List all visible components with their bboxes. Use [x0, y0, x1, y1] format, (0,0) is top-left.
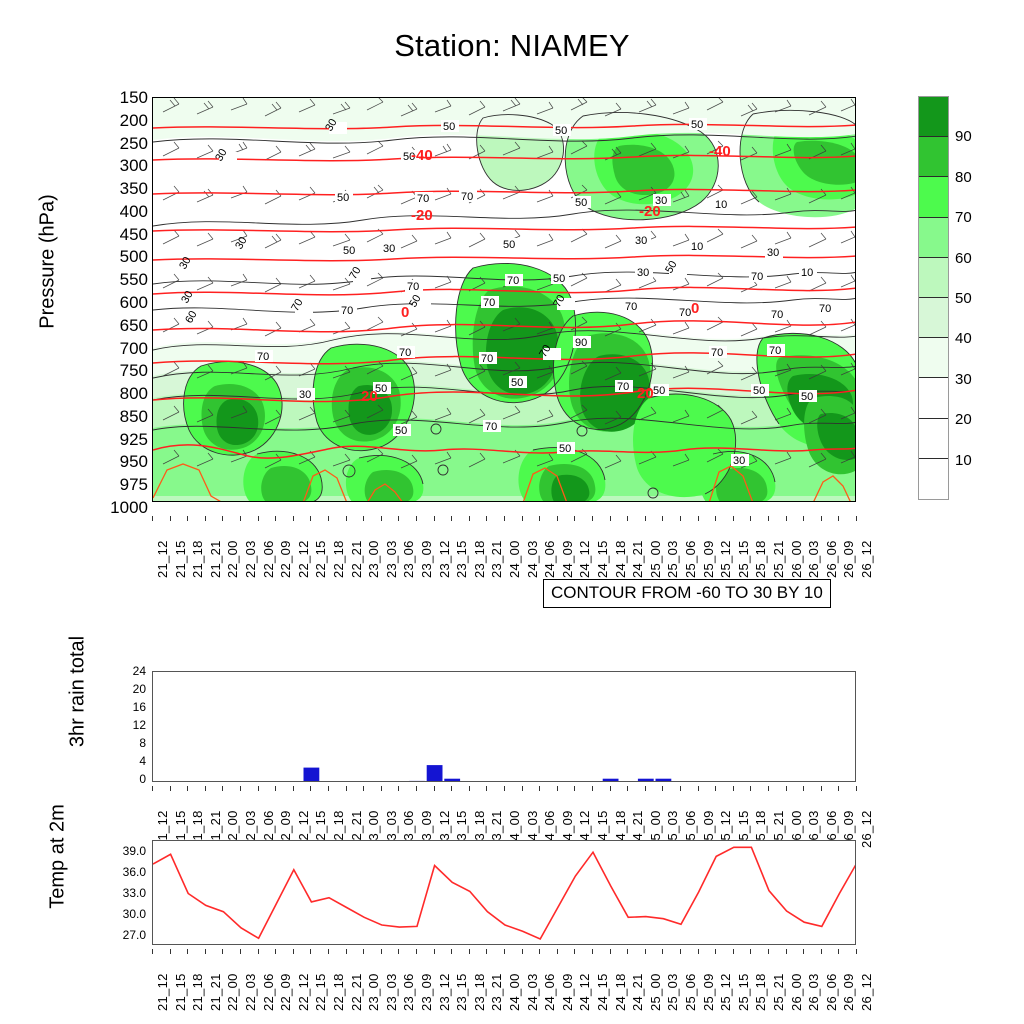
x-tick-label: 25_03: [666, 540, 679, 578]
x-tick-mark: [381, 949, 382, 954]
svg-text:70: 70: [625, 301, 637, 313]
x-tick-mark: [768, 786, 769, 791]
x-tick-mark: [786, 516, 787, 521]
svg-text:20: 20: [361, 388, 378, 405]
rain-y-tick-label: 20: [133, 683, 146, 695]
x-tick-mark: [363, 786, 364, 791]
x-tick-mark: [574, 516, 575, 521]
x-tick-mark: [680, 786, 681, 791]
x-tick-label: 26_00: [790, 973, 803, 1011]
x-tick-mark: [486, 949, 487, 954]
main-y-axis-ticks: 1502002503003504004505005506006507007508…: [60, 89, 148, 509]
x-tick-label: 21_15: [174, 973, 187, 1011]
x-tick-label: 23_18: [473, 973, 486, 1011]
x-tick-mark: [469, 786, 470, 791]
rain-y-tick-label: 16: [133, 701, 146, 713]
x-tick-label: 23_06: [402, 973, 415, 1011]
x-tick-label: 24_21: [631, 540, 644, 578]
colorbar-cell: [919, 97, 948, 137]
x-tick-mark: [258, 786, 259, 791]
x-tick-mark: [574, 786, 575, 791]
y-tick-label: 200: [120, 112, 148, 129]
x-tick-label: 24_03: [526, 973, 539, 1011]
y-tick-label: 550: [120, 271, 148, 288]
x-tick-mark: [170, 516, 171, 521]
x-tick-label: 24_09: [561, 540, 574, 578]
colorbar-tick-label: 80: [955, 170, 972, 185]
x-tick-label: 23_06: [402, 540, 415, 578]
x-tick-label: 22_18: [332, 973, 345, 1011]
temp-y-tick-label: 33.0: [123, 887, 146, 899]
svg-text:70: 70: [617, 381, 629, 393]
x-tick-mark: [522, 516, 523, 521]
x-tick-mark: [416, 949, 417, 954]
rain-bar: [427, 765, 443, 782]
x-tick-mark: [856, 786, 857, 791]
svg-text:30: 30: [767, 247, 779, 259]
x-tick-label: 25_15: [737, 540, 750, 578]
y-tick-label: 700: [120, 340, 148, 357]
x-tick-mark: [803, 949, 804, 954]
x-tick-mark: [293, 516, 294, 521]
x-tick-mark: [768, 516, 769, 521]
main-y-axis-label: Pressure (hPa): [37, 152, 60, 372]
rain-y-tick-label: 8: [139, 737, 146, 749]
x-tick-mark: [522, 949, 523, 954]
svg-text:10: 10: [801, 267, 813, 279]
x-tick-label: 25_09: [702, 540, 715, 578]
svg-text:70: 70: [711, 347, 723, 359]
svg-text:70: 70: [751, 271, 763, 283]
x-tick-mark: [416, 786, 417, 791]
svg-text:30: 30: [637, 267, 649, 279]
x-tick-label: 24_03: [526, 540, 539, 578]
x-tick-mark: [486, 516, 487, 521]
x-tick-mark: [645, 949, 646, 954]
svg-text:30: 30: [299, 389, 311, 401]
x-tick-label: 22_15: [314, 540, 327, 578]
x-tick-label: 25_21: [772, 540, 785, 578]
x-tick-mark: [346, 516, 347, 521]
x-tick-mark: [275, 516, 276, 521]
rain-y-axis-ticks: 24201612840: [100, 663, 146, 789]
svg-text:50: 50: [503, 239, 515, 251]
x-tick-mark: [750, 949, 751, 954]
colorbar-tick-label: 50: [955, 291, 972, 306]
x-tick-label: 22_03: [244, 540, 257, 578]
rain-bar: [304, 768, 320, 782]
x-tick-label: 25_06: [684, 540, 697, 578]
x-tick-mark: [328, 516, 329, 521]
colorbar-tick-label: 70: [955, 210, 972, 225]
x-tick-mark: [539, 949, 540, 954]
svg-text:50: 50: [337, 192, 349, 204]
temp-y-tick-label: 36.0: [123, 866, 146, 878]
x-tick-mark: [434, 949, 435, 954]
colorbar-cell: [919, 298, 948, 338]
x-tick-label: 24_00: [508, 973, 521, 1011]
x-tick-mark: [240, 949, 241, 954]
x-tick-mark: [715, 949, 716, 954]
x-tick-mark: [346, 786, 347, 791]
colorbar-cell: [919, 218, 948, 258]
y-tick-label: 650: [120, 317, 148, 334]
x-tick-label: 24_15: [596, 540, 609, 578]
temp-y-axis-ticks: 39.036.033.030.027.0: [96, 833, 146, 953]
svg-text:-40: -40: [709, 143, 731, 160]
x-tick-mark: [522, 786, 523, 791]
x-tick-mark: [838, 516, 839, 521]
rain-y-tick-label: 12: [133, 719, 146, 731]
x-tick-mark: [698, 516, 699, 521]
x-tick-label: 26_06: [825, 540, 838, 578]
x-tick-mark: [803, 516, 804, 521]
x-tick-label: 26_00: [790, 540, 803, 578]
x-tick-mark: [698, 949, 699, 954]
svg-text:50: 50: [555, 125, 567, 137]
contour-plot[interactable]: 30 50 50 50 30 50 50 70 70 50 30 10 30 3…: [152, 97, 856, 502]
x-tick-mark: [310, 786, 311, 791]
x-tick-label: 25_06: [684, 973, 697, 1011]
rain-bar: [462, 781, 478, 782]
x-tick-label: 24_12: [578, 973, 591, 1011]
x-tick-mark: [240, 516, 241, 521]
x-tick-label: 22_00: [226, 973, 239, 1011]
svg-text:30: 30: [733, 455, 745, 467]
x-tick-mark: [838, 786, 839, 791]
main-x-axis-labels: 21_1221_1521_1821_2122_0022_0322_0622_09…: [152, 516, 856, 586]
colorbar-cell: [919, 459, 948, 499]
x-tick-mark: [680, 949, 681, 954]
x-tick-mark: [557, 516, 558, 521]
x-tick-label: 26_09: [842, 973, 855, 1011]
x-tick-mark: [504, 949, 505, 954]
x-tick-mark: [821, 786, 822, 791]
x-tick-label: 22_15: [314, 973, 327, 1011]
x-tick-label: 23_21: [490, 540, 503, 578]
svg-text:30: 30: [635, 235, 647, 247]
x-tick-mark: [662, 786, 663, 791]
rain-bar-chart[interactable]: [152, 671, 856, 782]
x-tick-mark: [539, 786, 540, 791]
x-tick-mark: [416, 516, 417, 521]
x-tick-mark: [381, 516, 382, 521]
rain-bar: [480, 781, 496, 782]
svg-text:50: 50: [575, 197, 587, 209]
svg-text:50: 50: [511, 377, 523, 389]
x-tick-mark: [346, 949, 347, 954]
x-tick-mark: [187, 949, 188, 954]
x-tick-label: 24_06: [543, 973, 556, 1011]
x-tick-mark: [680, 516, 681, 521]
svg-text:70: 70: [407, 281, 419, 293]
x-tick-mark: [434, 516, 435, 521]
x-tick-mark: [715, 786, 716, 791]
y-tick-label: 800: [120, 385, 148, 402]
x-tick-label: 23_15: [455, 540, 468, 578]
x-tick-mark: [310, 516, 311, 521]
x-tick-label: 22_09: [279, 540, 292, 578]
x-tick-mark: [328, 786, 329, 791]
x-tick-label: 25_18: [754, 540, 767, 578]
x-tick-mark: [451, 786, 452, 791]
x-tick-label: 26_12: [860, 973, 873, 1011]
x-tick-label: 21_18: [191, 540, 204, 578]
temp-y-tick-label: 30.0: [123, 908, 146, 920]
svg-text:70: 70: [341, 305, 353, 317]
x-tick-mark: [293, 949, 294, 954]
x-tick-label: 22_09: [279, 973, 292, 1011]
x-tick-label: 25_15: [737, 973, 750, 1011]
x-tick-mark: [434, 786, 435, 791]
svg-text:70: 70: [819, 303, 831, 315]
x-tick-mark: [205, 786, 206, 791]
x-tick-mark: [592, 949, 593, 954]
y-tick-label: 300: [120, 157, 148, 174]
x-tick-mark: [856, 516, 857, 521]
x-tick-label: 21_12: [156, 973, 169, 1011]
rain-bar: [444, 779, 460, 782]
y-tick-label: 350: [120, 180, 148, 197]
colorbar-cell: [919, 419, 948, 459]
svg-text:50: 50: [691, 119, 703, 131]
x-tick-mark: [838, 949, 839, 954]
x-tick-label: 24_12: [578, 540, 591, 578]
x-tick-mark: [786, 949, 787, 954]
svg-text:0: 0: [401, 304, 409, 321]
rain-y-axis-label: 3hr rain total: [67, 592, 90, 792]
x-tick-label: 23_00: [367, 540, 380, 578]
x-tick-mark: [398, 786, 399, 791]
x-tick-mark: [381, 786, 382, 791]
x-tick-mark: [610, 786, 611, 791]
x-tick-label: 26_03: [807, 540, 820, 578]
x-tick-label: 24_15: [596, 973, 609, 1011]
x-tick-label: 25_21: [772, 973, 785, 1011]
x-tick-label: 21_15: [174, 540, 187, 578]
temp-y-tick-label: 27.0: [123, 929, 146, 941]
y-tick-label: 975: [120, 476, 148, 493]
colorbar-cell: [919, 137, 948, 177]
x-tick-label: 23_21: [490, 973, 503, 1011]
x-tick-label: 22_00: [226, 540, 239, 578]
x-tick-label: 25_00: [649, 973, 662, 1011]
svg-text:70: 70: [257, 351, 269, 363]
x-tick-mark: [698, 786, 699, 791]
svg-text:70: 70: [485, 421, 497, 433]
y-tick-label: 925: [120, 431, 148, 448]
x-tick-mark: [222, 786, 223, 791]
temp-line-canvas: [153, 841, 856, 945]
x-tick-mark: [539, 516, 540, 521]
x-tick-label: 22_12: [297, 973, 310, 1011]
colorbar-cell: [919, 378, 948, 418]
x-tick-mark: [856, 949, 857, 954]
x-tick-mark: [451, 949, 452, 954]
x-tick-mark: [733, 786, 734, 791]
x-tick-mark: [627, 786, 628, 791]
x-tick-mark: [733, 516, 734, 521]
contour-note: CONTOUR FROM -60 TO 30 BY 10: [543, 579, 831, 608]
x-tick-label: 24_00: [508, 540, 521, 578]
colorbar-tick-label: 20: [955, 412, 972, 427]
colorbar-tick-label: 30: [955, 372, 972, 387]
svg-text:10: 10: [691, 241, 703, 253]
x-tick-label: 22_18: [332, 540, 345, 578]
x-tick-mark: [645, 516, 646, 521]
x-tick-label: 24_06: [543, 540, 556, 578]
rain-bar: [656, 779, 672, 782]
x-tick-mark: [170, 786, 171, 791]
temp-y-tick-label: 39.0: [123, 845, 146, 857]
colorbar-cell: [919, 338, 948, 378]
rain-bar: [198, 781, 214, 782]
svg-text:50: 50: [553, 273, 565, 285]
x-tick-label: 23_15: [455, 973, 468, 1011]
rain-bars: [198, 765, 671, 782]
svg-text:70: 70: [771, 309, 783, 321]
y-tick-label: 250: [120, 135, 148, 152]
colorbar-tick-label: 10: [955, 453, 972, 468]
temp-series-line: [153, 847, 856, 939]
svg-text:70: 70: [769, 345, 781, 357]
y-tick-label: 1000: [110, 499, 148, 516]
contour-plot-canvas: 30 50 50 50 30 50 50 70 70 50 30 10 30 3…: [153, 98, 856, 502]
svg-text:50: 50: [753, 385, 765, 397]
colorbar-cell: [919, 258, 948, 298]
x-tick-mark: [187, 516, 188, 521]
x-tick-label: 23_12: [438, 540, 451, 578]
svg-text:30: 30: [383, 243, 395, 255]
temp-x-axis-labels: 21_1221_1521_1821_2122_0022_0322_0622_09…: [152, 949, 856, 1019]
x-tick-mark: [627, 949, 628, 954]
rain-bar: [603, 779, 619, 782]
x-tick-mark: [293, 786, 294, 791]
svg-text:70: 70: [507, 275, 519, 287]
temp-y-axis-label: Temp at 2m: [47, 757, 70, 957]
x-tick-mark: [152, 786, 153, 791]
x-tick-mark: [750, 786, 751, 791]
x-tick-mark: [275, 786, 276, 791]
x-tick-label: 25_09: [702, 973, 715, 1011]
x-tick-mark: [768, 949, 769, 954]
x-tick-label: 21_21: [209, 973, 222, 1011]
x-tick-label: 23_03: [385, 540, 398, 578]
colorbar-tick-label: 40: [955, 331, 972, 346]
colorbar-labels: 908070605040302010: [955, 96, 1015, 500]
svg-text:20: 20: [637, 385, 654, 402]
x-tick-mark: [205, 949, 206, 954]
svg-text:50: 50: [559, 443, 571, 455]
svg-text:-20: -20: [411, 207, 433, 224]
x-tick-label: 26_06: [825, 973, 838, 1011]
x-tick-label: 24_18: [614, 973, 627, 1011]
x-tick-label: 26_12: [860, 810, 873, 848]
x-tick-mark: [398, 516, 399, 521]
x-tick-mark: [592, 786, 593, 791]
x-tick-mark: [715, 516, 716, 521]
x-tick-mark: [258, 516, 259, 521]
x-tick-label: 24_18: [614, 540, 627, 578]
svg-text:50: 50: [443, 121, 455, 133]
x-tick-label: 26_09: [842, 540, 855, 578]
x-tick-mark: [504, 516, 505, 521]
x-tick-mark: [222, 516, 223, 521]
x-tick-mark: [574, 949, 575, 954]
x-tick-mark: [205, 516, 206, 521]
x-tick-mark: [610, 949, 611, 954]
x-tick-mark: [592, 516, 593, 521]
rain-bar-canvas: [153, 672, 856, 782]
x-tick-mark: [821, 516, 822, 521]
rain-bar: [638, 779, 654, 782]
x-tick-label: 25_12: [719, 973, 732, 1011]
x-tick-label: 22_12: [297, 540, 310, 578]
page-title: Station: NIAMEY: [0, 28, 1024, 64]
x-tick-mark: [610, 516, 611, 521]
x-tick-label: 21_12: [156, 540, 169, 578]
x-tick-mark: [240, 786, 241, 791]
x-tick-label: 22_21: [350, 973, 363, 1011]
y-tick-label: 500: [120, 248, 148, 265]
rain-bar: [216, 781, 232, 782]
x-tick-mark: [170, 949, 171, 954]
x-tick-label: 24_09: [561, 973, 574, 1011]
x-tick-label: 26_12: [860, 540, 873, 578]
x-tick-label: 26_03: [807, 973, 820, 1011]
x-tick-mark: [662, 949, 663, 954]
svg-text:70: 70: [679, 307, 691, 319]
x-tick-mark: [821, 949, 822, 954]
x-tick-label: 23_12: [438, 973, 451, 1011]
x-tick-label: 22_06: [262, 540, 275, 578]
x-tick-mark: [328, 949, 329, 954]
rain-bar: [620, 781, 636, 782]
svg-text:70: 70: [399, 347, 411, 359]
x-tick-mark: [504, 786, 505, 791]
y-tick-label: 950: [120, 453, 148, 470]
x-tick-label: 25_12: [719, 540, 732, 578]
x-tick-mark: [363, 949, 364, 954]
x-tick-label: 21_21: [209, 540, 222, 578]
colorbar-cell: [919, 177, 948, 217]
x-tick-label: 25_00: [649, 540, 662, 578]
x-tick-label: 25_18: [754, 973, 767, 1011]
rain-y-tick-label: 4: [139, 755, 146, 767]
x-tick-mark: [627, 516, 628, 521]
x-tick-mark: [222, 949, 223, 954]
x-tick-mark: [451, 516, 452, 521]
svg-text:70: 70: [417, 193, 429, 205]
svg-text:10: 10: [715, 199, 727, 211]
colorbar[interactable]: [918, 96, 949, 500]
svg-text:-40: -40: [411, 147, 433, 164]
svg-text:70: 70: [461, 191, 473, 203]
svg-text:50: 50: [801, 391, 813, 403]
x-tick-mark: [557, 786, 558, 791]
svg-text:50: 50: [653, 385, 665, 397]
y-tick-label: 600: [120, 294, 148, 311]
x-tick-mark: [310, 949, 311, 954]
x-tick-mark: [786, 786, 787, 791]
x-tick-mark: [469, 516, 470, 521]
y-tick-label: 750: [120, 362, 148, 379]
rain-y-tick-label: 0: [139, 773, 146, 785]
x-tick-mark: [258, 949, 259, 954]
temp-line-chart[interactable]: [152, 840, 856, 945]
rain-bar: [409, 781, 425, 782]
svg-text:-20: -20: [639, 203, 661, 220]
